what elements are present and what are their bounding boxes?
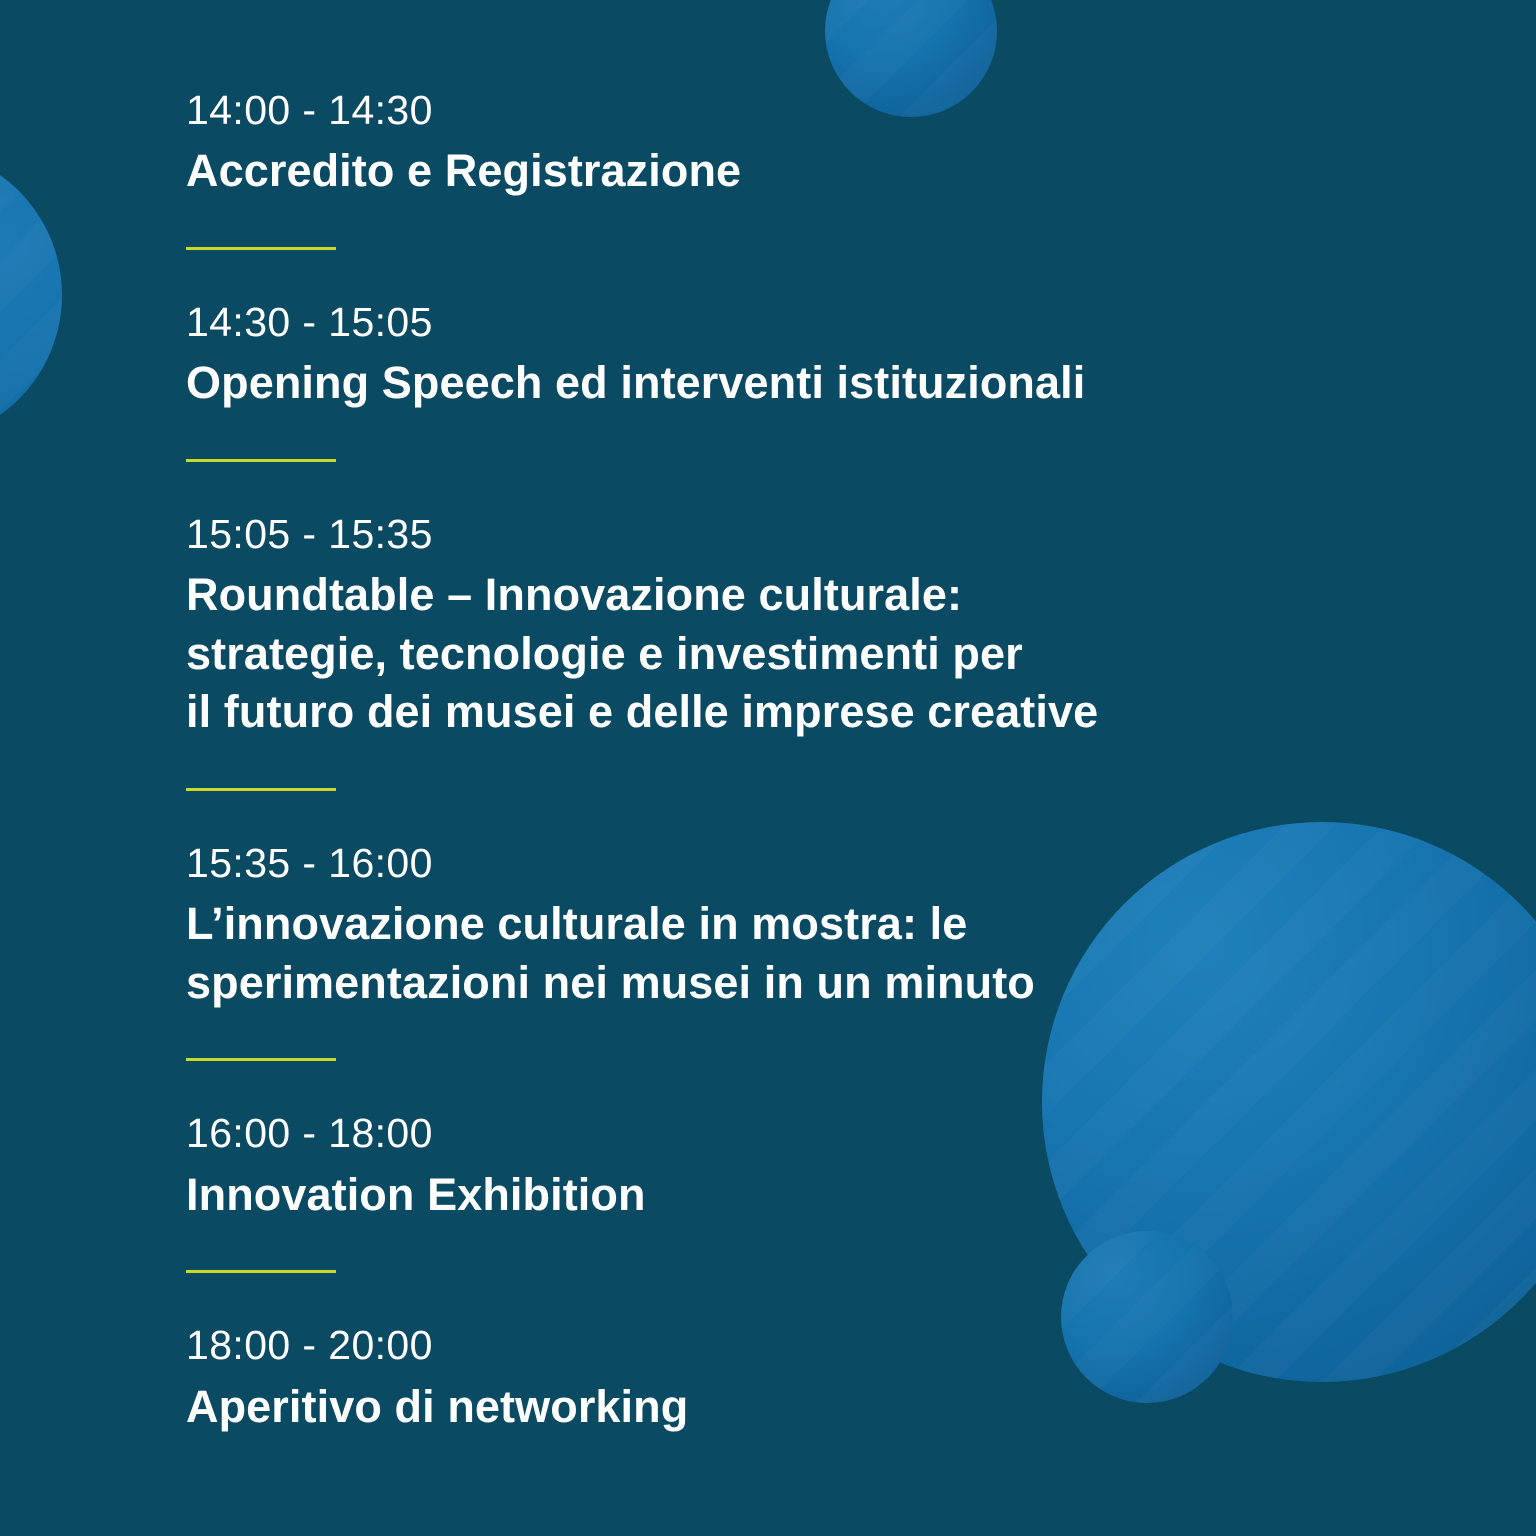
agenda-item: 14:00 - 14:30 Accredito e Registrazione <box>186 84 1536 250</box>
agenda-item-title: Accredito e Registrazione <box>186 142 1536 201</box>
agenda-item-time: 14:00 - 14:30 <box>186 84 1536 136</box>
agenda-item-title: L’innovazione culturale in mostra: le sp… <box>186 895 1536 1012</box>
agenda-list: 14:00 - 14:30 Accredito e Registrazione … <box>0 0 1536 1436</box>
agenda-item-divider <box>186 459 336 462</box>
agenda-item-divider <box>186 1058 336 1061</box>
agenda-item-time: 15:35 - 16:00 <box>186 837 1536 889</box>
agenda-item-time: 18:00 - 20:00 <box>186 1319 1536 1371</box>
agenda-item-title: Opening Speech ed interventi istituziona… <box>186 354 1536 413</box>
agenda-item: 18:00 - 20:00 Aperitivo di networking <box>186 1319 1536 1436</box>
agenda-poster: 14:00 - 14:30 Accredito e Registrazione … <box>0 0 1536 1536</box>
agenda-item-title: Aperitivo di networking <box>186 1378 1536 1437</box>
agenda-item-divider <box>186 247 336 250</box>
agenda-item: 15:05 - 15:35 Roundtable – Innovazione c… <box>186 508 1536 791</box>
agenda-item-divider <box>186 1270 336 1273</box>
agenda-item: 16:00 - 18:00 Innovation Exhibition <box>186 1107 1536 1273</box>
agenda-item-divider <box>186 788 336 791</box>
agenda-item-title: Roundtable – Innovazione culturale: stra… <box>186 566 1536 742</box>
agenda-item-time: 16:00 - 18:00 <box>186 1107 1536 1159</box>
agenda-item-time: 14:30 - 15:05 <box>186 296 1536 348</box>
agenda-item: 14:30 - 15:05 Opening Speech ed interven… <box>186 296 1536 462</box>
agenda-item-time: 15:05 - 15:35 <box>186 508 1536 560</box>
agenda-item-title: Innovation Exhibition <box>186 1166 1536 1225</box>
agenda-item: 15:35 - 16:00 L’innovazione culturale in… <box>186 837 1536 1061</box>
